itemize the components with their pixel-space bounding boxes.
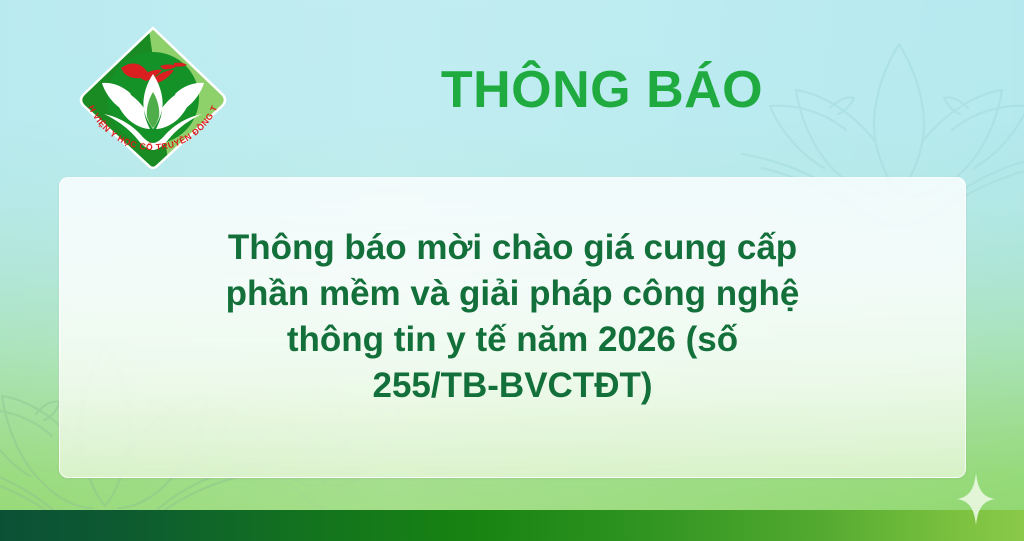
announcement-line: phần mềm và giải pháp công nghệ [118,271,907,317]
announcement-card: Thông báo mời chào giá cung cấp phần mềm… [59,177,966,478]
announcement-line: thông tin y tế năm 2026 (số [118,317,907,363]
announcement-banner: BỆNH VIỆN Y HỌC CỔ TRUYỀN ĐỒNG THÁP THÔN… [0,0,1024,541]
announcement-line: 255/TB-BVCTĐT) [118,363,907,409]
footer-bar [0,510,1024,541]
announcement-line: Thông báo mời chào giá cung cấp [118,225,907,271]
announcement-text: Thông báo mời chào giá cung cấp phần mềm… [60,225,965,408]
page-title: THÔNG BÁO [252,62,952,119]
hospital-logo: BỆNH VIỆN Y HỌC CỔ TRUYỀN ĐỒNG THÁP [74,22,232,174]
